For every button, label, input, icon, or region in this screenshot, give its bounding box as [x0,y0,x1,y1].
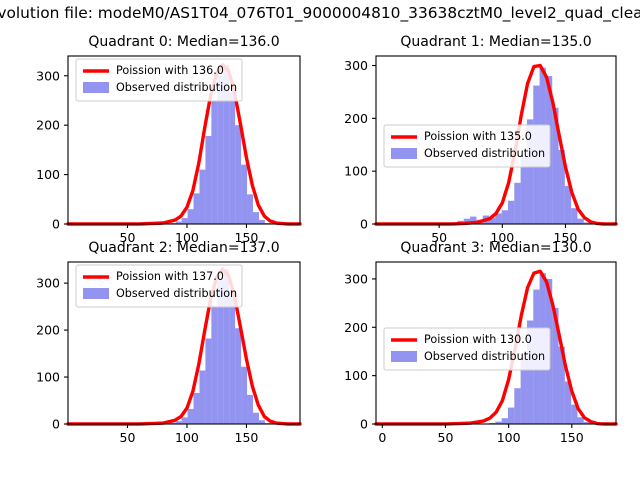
y-tick-label: 100 [344,164,368,179]
x-tick-label: 0 [378,430,386,445]
hist-bar [205,136,211,224]
legend[interactable]: Poission with 130.0Observed distribution [384,328,550,370]
y-tick-label: 0 [360,417,368,432]
hist-bar [235,125,241,224]
legend-patch-swatch [391,351,417,362]
subplot-title: Quadrant 2: Median=137.0 [88,240,279,256]
hist-bar [247,395,253,424]
hist-bar [211,306,217,424]
hist-bar [502,418,508,424]
hist-bar [182,417,188,424]
hist-bar [194,393,200,424]
hist-bar [508,201,514,224]
hist-bar [199,370,205,424]
y-tick-label: 300 [36,276,60,291]
y-tick-label: 0 [52,417,60,432]
legend[interactable]: Poission with 135.0Observed distribution [384,125,550,167]
x-tick-label: 150 [560,430,584,445]
y-tick-label: 200 [36,118,60,133]
y-tick-label: 200 [344,111,368,126]
y-tick-label: 100 [36,167,60,182]
figure-suptitle: Evolution file: modeM0/AS1T04_076T01_900… [0,4,640,22]
legend-patch-swatch [391,148,417,159]
x-tick-label: 50 [438,430,454,445]
legend[interactable]: Poission with 137.0Observed distribution [76,265,242,307]
legend-label-poisson: Poission with 137.0 [116,270,224,283]
legend-label-poisson: Poission with 135.0 [424,130,532,143]
x-tick-label: 100 [497,430,521,445]
subplot-title: Quadrant 1: Median=135.0 [400,34,591,50]
matplotlib-figure: Evolution file: modeM0/AS1T04_076T01_900… [0,0,640,480]
hist-bar [241,367,247,424]
y-tick-label: 300 [344,271,368,286]
hist-bar [514,388,520,424]
hist-bar [199,170,205,224]
legend[interactable]: Poission with 136.0Observed distribution [76,59,242,101]
legend-label-observed: Observed distribution [424,350,545,363]
legend-label-observed: Observed distribution [116,287,237,300]
legend-patch-swatch [83,82,109,93]
hist-bar [229,92,235,224]
subplot-quadrant-1: Quadrant 1: Median=135.05010015001002003… [320,22,640,242]
legend-label-poisson: Poission with 130.0 [424,333,532,346]
hist-bar [241,165,247,224]
y-tick-label: 200 [36,323,60,338]
hist-bar [235,328,241,424]
subplot-title: Quadrant 0: Median=136.0 [88,34,279,50]
subplot-title: Quadrant 3: Median=130.0 [400,240,591,256]
x-tick-label: 50 [120,430,136,445]
y-tick-label: 100 [36,370,60,385]
hist-bar [253,413,259,424]
hist-bar [508,408,514,424]
hist-bar [205,339,211,424]
y-tick-label: 300 [36,68,60,83]
y-tick-label: 200 [344,320,368,335]
hist-bar [229,296,235,424]
legend-label-observed: Observed distribution [116,81,237,94]
x-tick-label: 150 [235,430,259,445]
hist-bar [247,194,253,224]
hist-bar [514,183,520,224]
subplot-quadrant-0: Quadrant 0: Median=136.05010015001002003… [0,22,320,242]
x-tick-label: 100 [175,430,199,445]
legend-patch-swatch [83,288,109,299]
hist-bar [211,101,217,224]
subplot-quadrant-3: Quadrant 3: Median=130.00501001500100200… [320,222,640,448]
legend-label-poisson: Poission with 136.0 [116,64,224,77]
hist-bar [194,193,200,224]
hist-bar [188,409,194,424]
hist-bar [259,420,265,424]
subplot-quadrant-2: Quadrant 2: Median=137.05010015001002003… [0,222,320,448]
y-tick-label: 100 [344,368,368,383]
y-tick-label: 300 [344,58,368,73]
legend-label-observed: Observed distribution [424,147,545,160]
